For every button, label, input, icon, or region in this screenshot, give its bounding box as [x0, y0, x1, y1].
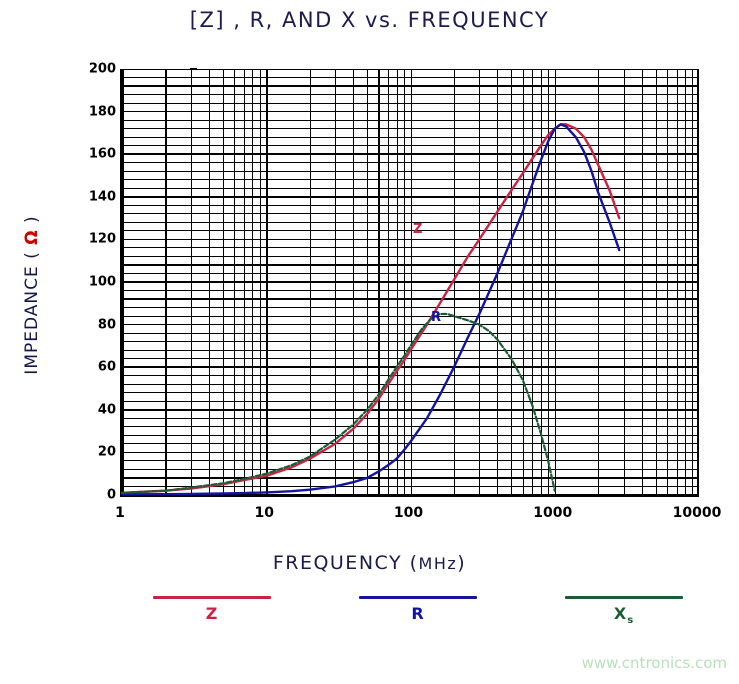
curve-z: [122, 124, 619, 492]
y-axis-tick-labels: 020406080100120140160180200: [78, 69, 116, 495]
y-tick-label: 80: [80, 317, 116, 332]
legend-swatch-r: [359, 596, 477, 599]
chart-legend: Z R Xs: [0, 596, 739, 646]
legend-label-r: R: [343, 604, 493, 623]
y-tick-label: 120: [80, 232, 116, 247]
watermark: www.cntronics.com: [582, 654, 727, 672]
legend-swatch-z: [153, 596, 271, 599]
y-axis-title-text: IMPEDANCE (: [22, 251, 42, 374]
legend-label-x-subscript: s: [627, 615, 634, 626]
y-tick-label: 200: [80, 62, 116, 77]
legend-item-z: Z: [137, 596, 287, 623]
inline-label-z: Z: [413, 222, 422, 237]
x-tick-label: 100: [394, 505, 423, 521]
y-axis-title-close: ): [22, 215, 42, 223]
legend-swatch-x: [565, 596, 683, 599]
legend-label-x: Xs: [549, 604, 699, 626]
curve-r: [122, 124, 619, 494]
y-tick-label: 100: [80, 275, 116, 290]
legend-item-r: R: [343, 596, 493, 623]
y-axis-title: IMPEDANCE ( Ω ): [22, 145, 42, 445]
y-axis-title-container: IMPEDANCE ( Ω ): [2, 150, 42, 450]
x-axis-unit: MHz: [419, 554, 458, 573]
inline-label-r: R: [431, 310, 441, 325]
x-tick-label: 1000: [533, 505, 572, 521]
x-axis-title: FREQUENCY (MHz): [0, 552, 739, 574]
x-tick-label: 10: [255, 505, 274, 521]
legend-item-x: Xs: [549, 596, 699, 626]
x-tick-label: 1: [115, 505, 125, 521]
y-tick-label: 20: [80, 445, 116, 460]
chart-title: [Z] , R, AND X vs. FREQUENCY: [0, 8, 739, 32]
data-curves: [122, 69, 699, 495]
x-tick-label: 10000: [673, 505, 722, 521]
y-tick-label: 40: [80, 402, 116, 417]
x-axis-title-close: ): [457, 552, 466, 574]
x-axis-tick-labels: 110100100010000: [60, 499, 739, 529]
y-tick-label: 140: [80, 189, 116, 204]
curve-x: [122, 314, 555, 493]
x-axis-title-text: FREQUENCY (: [273, 552, 419, 574]
y-tick-label: 180: [80, 104, 116, 119]
plot-area: [120, 69, 699, 497]
y-tick-label: 160: [80, 147, 116, 162]
ohm-symbol: Ω: [22, 229, 42, 244]
y-tick-label: 60: [80, 360, 116, 375]
legend-label-z: Z: [137, 604, 287, 623]
